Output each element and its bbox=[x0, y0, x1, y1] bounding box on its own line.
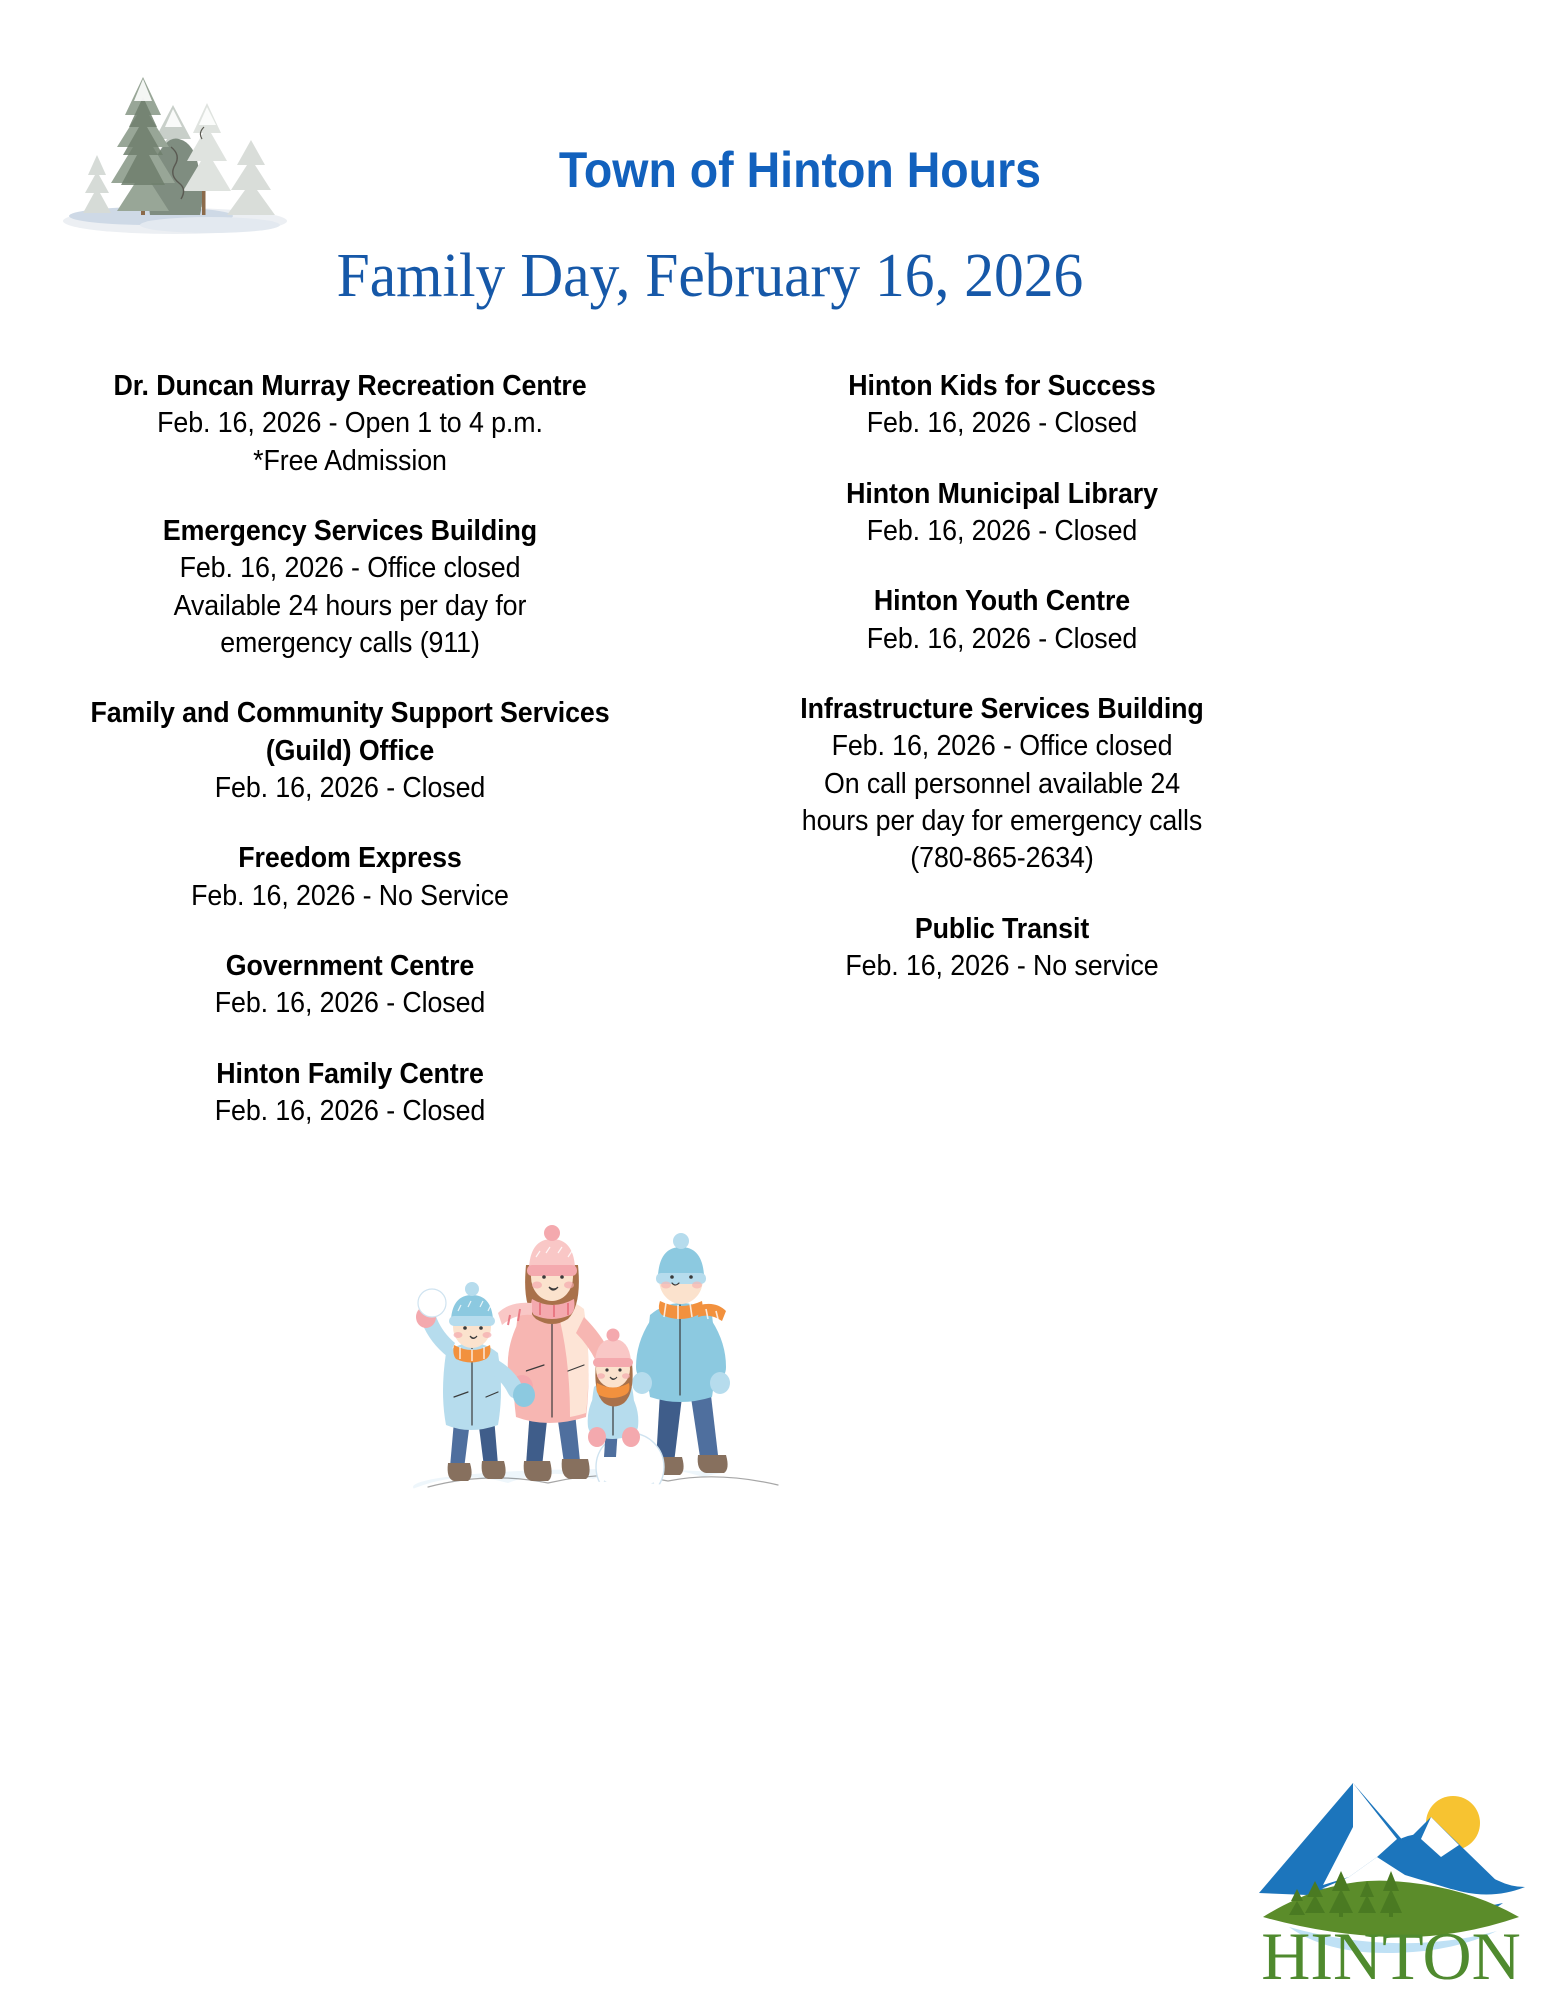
hours-entry-detail: Feb. 16, 2026 - Closed bbox=[64, 985, 636, 1022]
hours-entry-detail: Feb. 16, 2026 - Open 1 to 4 p.m. bbox=[64, 405, 636, 442]
hours-entry-detail: Feb. 16, 2026 - Closed bbox=[716, 405, 1288, 442]
hours-entry: Family and Community Support Services (G… bbox=[46, 695, 654, 807]
hours-entry-detail: Feb. 16, 2026 - Closed bbox=[64, 1093, 636, 1130]
hours-entry: Emergency Services BuildingFeb. 16, 2026… bbox=[46, 513, 654, 662]
hours-entry-name: Freedom Express bbox=[64, 840, 636, 877]
hours-entry-detail: (780-865-2634) bbox=[716, 840, 1288, 877]
hours-entry-name: Infrastructure Services Building bbox=[716, 691, 1288, 728]
hours-entry: Dr. Duncan Murray Recreation CentreFeb. … bbox=[46, 368, 654, 480]
hours-entry-detail: Feb. 16, 2026 - Office closed bbox=[64, 550, 636, 587]
hours-entry-name: Hinton Municipal Library bbox=[716, 476, 1288, 513]
hinton-mountain-logo: HINTON bbox=[1245, 1765, 1535, 1990]
hours-entry: Hinton Youth CentreFeb. 16, 2026 - Close… bbox=[698, 583, 1306, 658]
page-title: Town of Hinton Hours bbox=[335, 145, 1265, 195]
hours-entry-name: Family and Community Support Services (G… bbox=[64, 695, 636, 770]
logo-wordmark: HINTON bbox=[1261, 1918, 1520, 1990]
hours-listing: Dr. Duncan Murray Recreation CentreFeb. … bbox=[0, 368, 1545, 1130]
hours-column-left: Dr. Duncan Murray Recreation CentreFeb. … bbox=[30, 368, 670, 1130]
hours-entry-detail: On call personnel available 24 bbox=[716, 766, 1288, 803]
hours-entry-name: Emergency Services Building bbox=[64, 513, 636, 550]
hours-entry-detail: Feb. 16, 2026 - No service bbox=[716, 948, 1288, 985]
hours-entry-detail: *Free Admission bbox=[64, 443, 636, 480]
hours-entry-name: Hinton Youth Centre bbox=[716, 583, 1288, 620]
hours-entry-detail: Feb. 16, 2026 - Closed bbox=[716, 621, 1288, 658]
hours-entry-detail: Feb. 16, 2026 - Office closed bbox=[716, 728, 1288, 765]
hours-entry: Infrastructure Services BuildingFeb. 16,… bbox=[698, 691, 1306, 878]
winter-pine-trees-icon bbox=[55, 35, 295, 235]
hours-entry: Hinton Municipal LibraryFeb. 16, 2026 - … bbox=[698, 476, 1306, 551]
hours-entry-detail: hours per day for emergency calls bbox=[716, 803, 1288, 840]
hours-entry-detail: Feb. 16, 2026 - No Service bbox=[64, 878, 636, 915]
family-playing-in-snow-icon: .ln { stroke:#3a3a3a; stroke-width:1.5; … bbox=[398, 1195, 818, 1505]
hours-entry-name: Public Transit bbox=[716, 911, 1288, 948]
hours-entry-detail: Feb. 16, 2026 - Closed bbox=[64, 770, 636, 807]
hours-entry: Hinton Family CentreFeb. 16, 2026 - Clos… bbox=[46, 1056, 654, 1131]
hours-entry-detail: Available 24 hours per day for bbox=[64, 588, 636, 625]
hours-entry-name: Hinton Kids for Success bbox=[716, 368, 1288, 405]
hours-entry: Freedom ExpressFeb. 16, 2026 - No Servic… bbox=[46, 840, 654, 915]
hours-entry-name: Hinton Family Centre bbox=[64, 1056, 636, 1093]
hours-entry: Public TransitFeb. 16, 2026 - No service bbox=[698, 911, 1306, 986]
hours-entry: Hinton Kids for SuccessFeb. 16, 2026 - C… bbox=[698, 368, 1306, 443]
page-subtitle: Family Day, February 16, 2026 bbox=[144, 245, 1277, 307]
page-header: Town of Hinton Hours Family Day, Februar… bbox=[0, 0, 1545, 250]
hours-entry-detail: Feb. 16, 2026 - Closed bbox=[716, 513, 1288, 550]
hours-entry-name: Government Centre bbox=[64, 948, 636, 985]
hours-column-right: Hinton Kids for SuccessFeb. 16, 2026 - C… bbox=[682, 368, 1322, 985]
hours-entry-detail: emergency calls (911) bbox=[64, 625, 636, 662]
hours-entry: Government CentreFeb. 16, 2026 - Closed bbox=[46, 948, 654, 1023]
hours-entry-name: Dr. Duncan Murray Recreation Centre bbox=[64, 368, 636, 405]
